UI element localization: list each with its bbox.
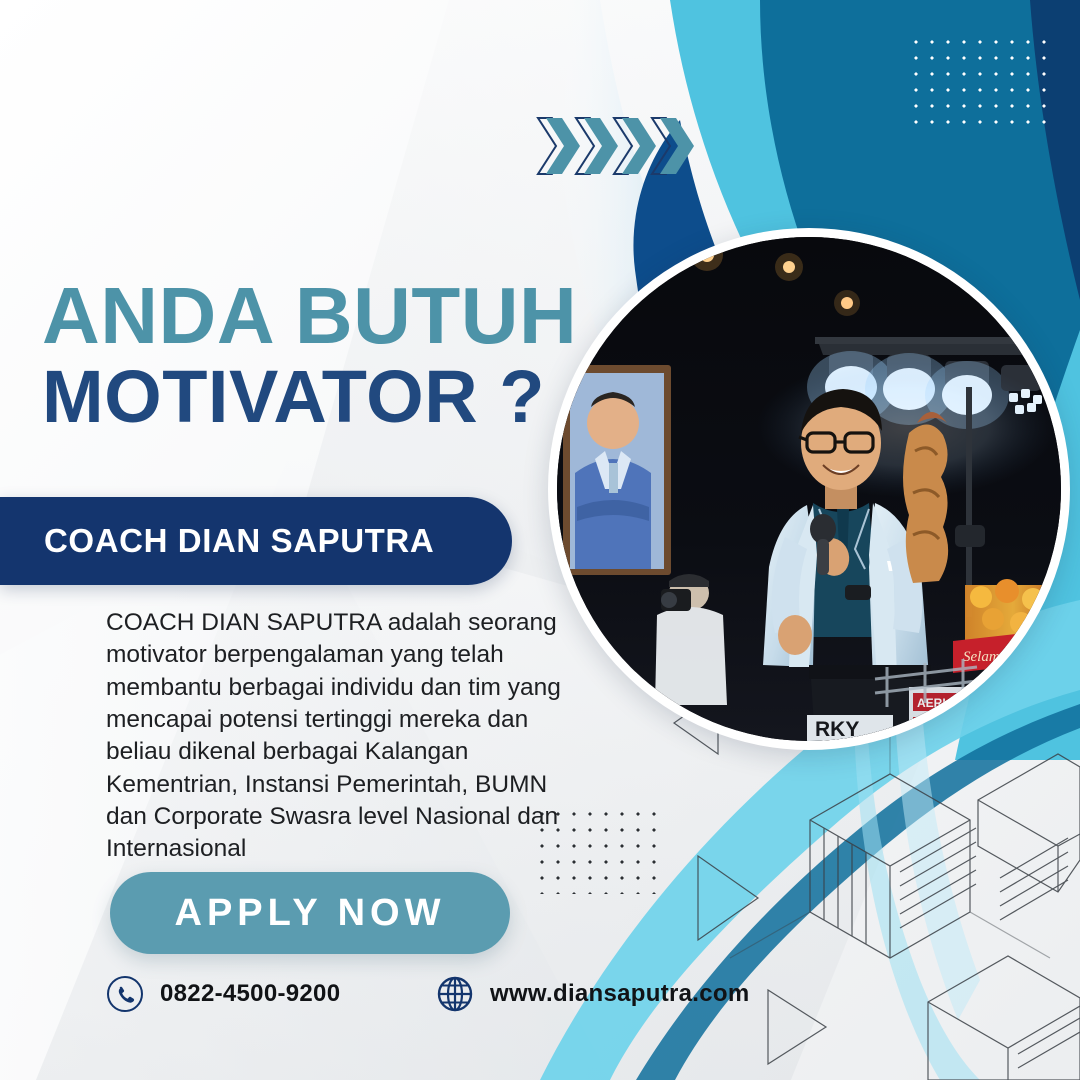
phone-contact[interactable]: 0822-4500-9200: [106, 975, 436, 1013]
apply-now-button[interactable]: APPLY NOW: [110, 872, 510, 954]
apply-now-label: APPLY NOW: [175, 892, 446, 935]
svg-text:AERI: AERI: [917, 696, 946, 710]
svg-text:RKY: RKY: [815, 718, 859, 741]
contact-row: 0822-4500-9200 www.diansaputra.com: [106, 975, 806, 1013]
page-title: ANDA BUTUH MOTIVATOR ?: [42, 278, 642, 434]
coach-name-label: COACH DIAN SAPUTRA: [0, 522, 434, 560]
coach-name-banner: COACH DIAN SAPUTRA: [0, 497, 512, 585]
poster-canvas: Selamat & S AERI ASE: [0, 0, 1080, 1080]
phone-icon: [106, 975, 144, 1013]
headline-line-2: MOTIVATOR ?: [42, 359, 642, 434]
dot-grid-icon: [908, 34, 1058, 126]
chevron-right-icon: [536, 112, 696, 180]
website-contact[interactable]: www.diansaputra.com: [436, 975, 750, 1013]
headline-line-1: ANDA BUTUH: [42, 278, 642, 355]
bio-paragraph: COACH DIAN SAPUTRA adalah seorang motiva…: [106, 607, 586, 866]
globe-icon: [436, 975, 474, 1013]
bio-text: COACH DIAN SAPUTRA adalah seorang motiva…: [106, 607, 586, 866]
phone-number: 0822-4500-9200: [160, 980, 340, 1008]
website-url: www.diansaputra.com: [490, 980, 750, 1008]
